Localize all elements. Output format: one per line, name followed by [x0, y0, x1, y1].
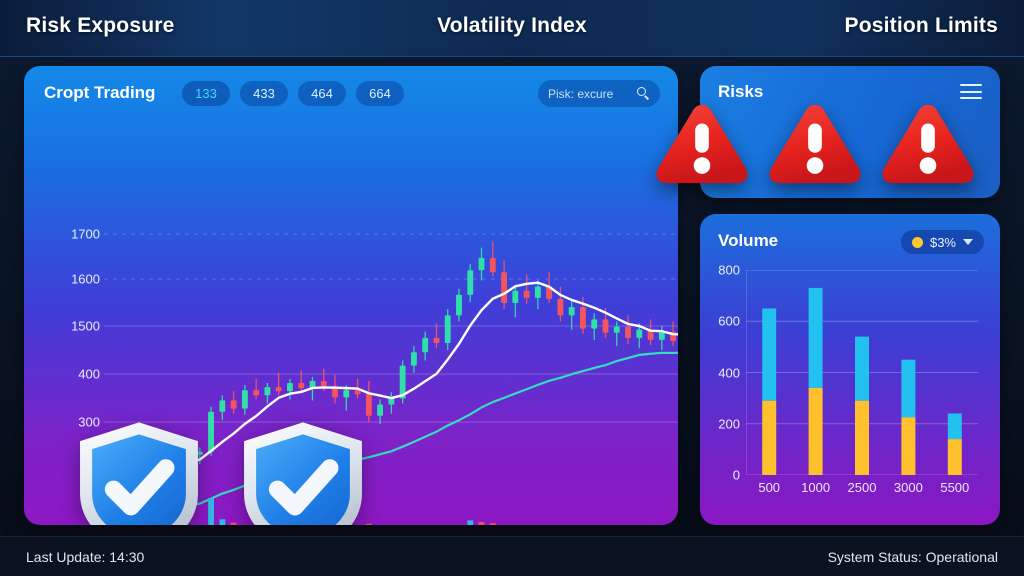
top-header: Risk Exposure Volatility Index Position …: [0, 0, 1024, 57]
chart-title: Cropt Trading: [44, 83, 155, 103]
volume-x-tick-5500: 5500: [940, 480, 969, 495]
volume-panel: Volume $3% 0200400600800 500100025003000…: [700, 214, 1000, 525]
shield-check-icon: [72, 418, 206, 525]
dashboard-root: Risk Exposure Volatility Index Position …: [0, 0, 1024, 576]
shield-check-icon: [236, 418, 370, 525]
warning-triangle-icon[interactable]: [653, 100, 751, 188]
risks-panel-title: Risks: [718, 82, 763, 102]
price-tick-400: 400: [78, 367, 100, 382]
price-tick-1500: 1500: [71, 319, 100, 334]
volume-bar-plot: [746, 270, 978, 475]
warning-triangle-icon[interactable]: [879, 100, 977, 188]
volume-y-tick-200: 200: [718, 416, 740, 431]
volume-y-tick-800: 800: [718, 263, 740, 278]
volume-x-tick-500: 500: [758, 480, 780, 495]
volume-badge-label: $3%: [930, 235, 956, 250]
last-update-label: Last Update: 14:30: [26, 549, 144, 565]
chevron-down-icon[interactable]: [963, 239, 973, 245]
volume-y-tick-600: 600: [718, 314, 740, 329]
volume-bar-svg: [746, 270, 978, 475]
volume-y-axis-labels: 0200400600800: [706, 264, 740, 481]
timeframe-pill-664[interactable]: 664: [356, 81, 404, 106]
price-tick-1600: 1600: [71, 272, 100, 287]
volume-x-tick-3000: 3000: [894, 480, 923, 495]
volume-filter-badge[interactable]: $3%: [901, 230, 984, 254]
timeframe-pill-433[interactable]: 433: [240, 81, 288, 106]
timeframe-pill-group: 133433464664: [182, 81, 404, 106]
status-dot-icon: [912, 237, 923, 248]
timeframe-pill-464[interactable]: 464: [298, 81, 346, 106]
volume-x-tick-1000: 1000: [801, 480, 830, 495]
volume-y-tick-0: 0: [733, 468, 740, 483]
status-footer: Last Update: 14:30 System Status: Operat…: [0, 536, 1024, 576]
hamburger-icon[interactable]: [960, 84, 982, 100]
warning-triangle-icon[interactable]: [766, 100, 864, 188]
timeframe-pill-133[interactable]: 133: [182, 81, 230, 106]
volume-x-axis-labels: 5001000250030005500: [746, 480, 978, 500]
search-icon[interactable]: [637, 87, 650, 100]
system-status-label: System Status: Operational: [828, 549, 998, 565]
search-input[interactable]: Pisk: excure: [548, 87, 637, 101]
trading-chart-panel: Cropt Trading 133433464664 Pisk: excure …: [24, 66, 678, 525]
price-tick-1700: 1700: [71, 227, 100, 242]
header-title-position-limits: Position Limits: [844, 14, 998, 38]
chart-search-box[interactable]: Pisk: excure: [538, 80, 660, 107]
volume-panel-title: Volume: [718, 231, 778, 251]
volume-x-tick-2500: 2500: [848, 480, 877, 495]
volume-y-tick-400: 400: [718, 365, 740, 380]
